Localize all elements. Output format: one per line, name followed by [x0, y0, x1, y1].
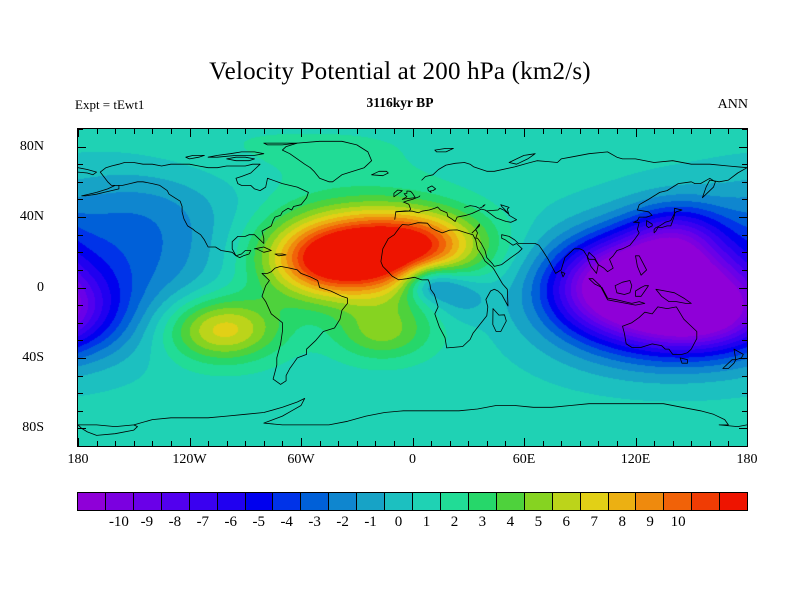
colorbar-tick-label: 4 [507, 514, 515, 531]
y-tick [78, 217, 86, 218]
y-tick [78, 252, 83, 253]
coastline-path [78, 425, 138, 436]
y-tick [742, 164, 747, 165]
colorbar-tick-label: 9 [646, 514, 654, 531]
x-axis-label: 120E [621, 452, 651, 468]
y-tick [78, 129, 83, 130]
coastline-path [647, 221, 653, 228]
colorbar-tick-label: 5 [535, 514, 543, 531]
x-tick [468, 129, 469, 134]
coastline-path [78, 398, 747, 426]
colorbar-tick-label: 6 [563, 514, 571, 531]
figure-page: Velocity Potential at 200 hPa (km2/s) 31… [0, 0, 800, 600]
y-tick [78, 376, 83, 377]
x-tick [450, 441, 451, 446]
x-tick [561, 129, 562, 134]
x-tick [524, 438, 525, 446]
coastline-path [472, 168, 747, 274]
x-axis-label: 60W [287, 452, 314, 468]
colorbar-cell [636, 493, 664, 510]
x-tick [431, 441, 432, 446]
y-axis-label: 0 [37, 280, 44, 296]
x-tick [728, 441, 729, 446]
x-tick [710, 441, 711, 446]
coastline-path [680, 358, 687, 363]
coastline-path [208, 152, 264, 157]
colorbar-tick-label: -4 [280, 514, 293, 531]
y-tick [78, 199, 83, 200]
colorbar-tick-label: -8 [169, 514, 182, 531]
x-tick [505, 441, 506, 446]
x-tick [227, 129, 228, 134]
x-tick [468, 441, 469, 446]
coastline-path [262, 266, 348, 384]
x-tick [301, 438, 302, 446]
y-tick [78, 270, 83, 271]
y-tick [742, 305, 747, 306]
colorbar-cell [134, 493, 162, 510]
colorbar-tick-label: -10 [109, 514, 129, 531]
x-tick [394, 441, 395, 446]
y-tick [78, 288, 86, 289]
x-tick [598, 129, 599, 134]
coastline-path [255, 247, 272, 252]
coastline-path [654, 208, 682, 233]
coastline-path [615, 281, 632, 295]
coastline-path [636, 256, 647, 275]
colorbar-cell [469, 493, 497, 510]
x-tick [152, 129, 153, 134]
x-tick [245, 441, 246, 446]
colorbar-cell [692, 493, 720, 510]
x-tick [691, 441, 692, 446]
y-tick [78, 305, 83, 306]
colorbar-tick-label: -7 [197, 514, 210, 531]
y-tick [739, 217, 747, 218]
coastline-path [282, 141, 371, 182]
colorbar-cell [413, 493, 441, 510]
colorbar-swatches [77, 492, 748, 511]
x-tick [301, 129, 302, 137]
colorbar-tick-label: 7 [590, 514, 598, 531]
x-tick [747, 129, 748, 137]
y-tick [78, 393, 83, 394]
y-tick [742, 411, 747, 412]
x-tick [357, 441, 358, 446]
y-tick [742, 252, 747, 253]
colorbar-tick-label: 0 [395, 514, 403, 531]
x-tick [691, 129, 692, 134]
x-axis-label: 0 [409, 452, 416, 468]
colorbar-cell [246, 493, 274, 510]
x-tick [190, 438, 191, 446]
y-tick [739, 428, 747, 429]
x-tick [617, 129, 618, 134]
colorbar-cell [357, 493, 385, 510]
colorbar-cell [664, 493, 692, 510]
colorbar-cell [720, 493, 747, 510]
coastline-path [372, 171, 389, 175]
x-tick [357, 129, 358, 134]
y-axis-label: 40N [20, 209, 44, 225]
x-tick [636, 438, 637, 446]
colorbar-cell [441, 493, 469, 510]
colorbar-tick-label: -3 [308, 514, 321, 531]
x-axis-label: 180 [68, 452, 89, 468]
x-tick [97, 441, 98, 446]
x-tick [282, 129, 283, 134]
y-tick [78, 323, 83, 324]
x-tick [543, 129, 544, 134]
y-tick [739, 147, 747, 148]
coastline-path [422, 152, 747, 180]
x-tick [320, 441, 321, 446]
coastline-path [78, 168, 97, 175]
x-tick [598, 441, 599, 446]
map-plot-area [77, 128, 748, 447]
x-axis-label: 120W [172, 452, 206, 468]
x-tick [115, 129, 116, 134]
x-tick [561, 441, 562, 446]
x-tick [505, 129, 506, 134]
colorbar-cell [609, 493, 637, 510]
colorbar-cell [301, 493, 329, 510]
x-tick [78, 129, 79, 137]
x-tick [264, 441, 265, 446]
y-tick [739, 358, 747, 359]
coastline-path [435, 148, 454, 152]
y-tick [742, 323, 747, 324]
colorbar-tick-label: -6 [225, 514, 238, 531]
x-tick [487, 441, 488, 446]
x-tick [97, 129, 98, 134]
y-tick [742, 393, 747, 394]
x-tick [190, 129, 191, 137]
x-tick [654, 129, 655, 134]
season-label: ANN [718, 97, 748, 113]
coastline-path [656, 289, 691, 303]
colorbar-tick-label: -9 [141, 514, 154, 531]
y-tick [78, 428, 86, 429]
coastline-path [623, 307, 697, 355]
colorbar-tick-label: 8 [618, 514, 626, 531]
y-tick [742, 235, 747, 236]
x-tick [208, 129, 209, 134]
colorbar-tick-label: 1 [423, 514, 431, 531]
colorbar-cell [385, 493, 413, 510]
coastline-path [395, 205, 517, 223]
coastline-path [275, 254, 286, 256]
coastline-path [561, 272, 565, 277]
colorbar-cell [106, 493, 134, 510]
colorbar-cell [581, 493, 609, 510]
x-tick [338, 441, 339, 446]
x-tick [487, 129, 488, 134]
y-tick [742, 182, 747, 183]
x-tick [208, 441, 209, 446]
coastline-path [394, 190, 402, 197]
y-tick [742, 270, 747, 271]
x-tick [227, 441, 228, 446]
x-axis-label: 60E [513, 452, 536, 468]
x-tick [654, 441, 655, 446]
x-tick [673, 441, 674, 446]
x-tick [171, 441, 172, 446]
x-tick [282, 441, 283, 446]
colorbar-cell [553, 493, 581, 510]
coastline-path [636, 286, 649, 297]
x-tick [617, 441, 618, 446]
y-axis-label: 80S [22, 420, 44, 436]
y-tick [739, 288, 747, 289]
x-tick [338, 129, 339, 134]
x-tick [543, 441, 544, 446]
x-tick [580, 441, 581, 446]
x-tick [320, 129, 321, 134]
x-tick [115, 441, 116, 446]
x-tick [413, 129, 414, 137]
colorbar-cell [273, 493, 301, 510]
x-tick [636, 129, 637, 137]
coastline-path [186, 155, 205, 159]
y-tick [742, 446, 747, 447]
colorbar-cell [78, 493, 106, 510]
x-tick [375, 441, 376, 446]
y-tick [742, 376, 747, 377]
coastline-path [402, 191, 415, 199]
coastline-overlay [78, 129, 747, 446]
y-tick [742, 199, 747, 200]
coastline-path [428, 186, 436, 193]
x-tick [524, 129, 525, 137]
colorbar-tick-label: 3 [479, 514, 487, 531]
x-tick [375, 129, 376, 134]
x-tick [580, 129, 581, 134]
colorbar-cell [190, 493, 218, 510]
x-tick [673, 129, 674, 134]
x-tick [78, 438, 79, 446]
y-tick [742, 129, 747, 130]
colorbar-tick-label: 2 [451, 514, 459, 531]
x-tick [152, 441, 153, 446]
x-tick [134, 441, 135, 446]
x-tick [394, 129, 395, 134]
coastline-path [82, 163, 309, 258]
y-tick [78, 411, 83, 412]
experiment-label: Expt = tEwt1 [75, 97, 144, 113]
colorbar [77, 492, 748, 511]
colorbar-tick-label: -2 [336, 514, 349, 531]
page-title: Velocity Potential at 200 hPa (km2/s) [0, 58, 800, 86]
coastline-path [227, 157, 255, 161]
x-tick [264, 129, 265, 134]
colorbar-tick-label: -1 [364, 514, 377, 531]
y-tick [742, 340, 747, 341]
x-tick [710, 129, 711, 134]
x-axis-label: 180 [737, 452, 758, 468]
y-tick [78, 182, 83, 183]
x-tick [134, 129, 135, 134]
colorbar-tick-label: 10 [671, 514, 686, 531]
y-tick [78, 340, 83, 341]
x-tick [747, 438, 748, 446]
colorbar-cell [162, 493, 190, 510]
coastline-path [381, 223, 508, 348]
y-tick [78, 164, 83, 165]
colorbar-cell [329, 493, 357, 510]
coastline-path [465, 205, 486, 209]
colorbar-cell [497, 493, 525, 510]
y-axis-label: 80N [20, 139, 44, 155]
coastline-path [493, 309, 507, 332]
x-tick [245, 129, 246, 134]
x-tick [171, 129, 172, 134]
y-axis-label: 40S [22, 350, 44, 366]
y-tick [78, 446, 83, 447]
x-tick [450, 129, 451, 134]
colorbar-tick-label: -5 [252, 514, 265, 531]
colorbar-cell [218, 493, 246, 510]
y-tick [78, 147, 86, 148]
x-tick [728, 129, 729, 134]
x-tick [431, 129, 432, 134]
y-tick [78, 235, 83, 236]
colorbar-cell [525, 493, 553, 510]
x-tick [413, 438, 414, 446]
y-tick [78, 358, 86, 359]
